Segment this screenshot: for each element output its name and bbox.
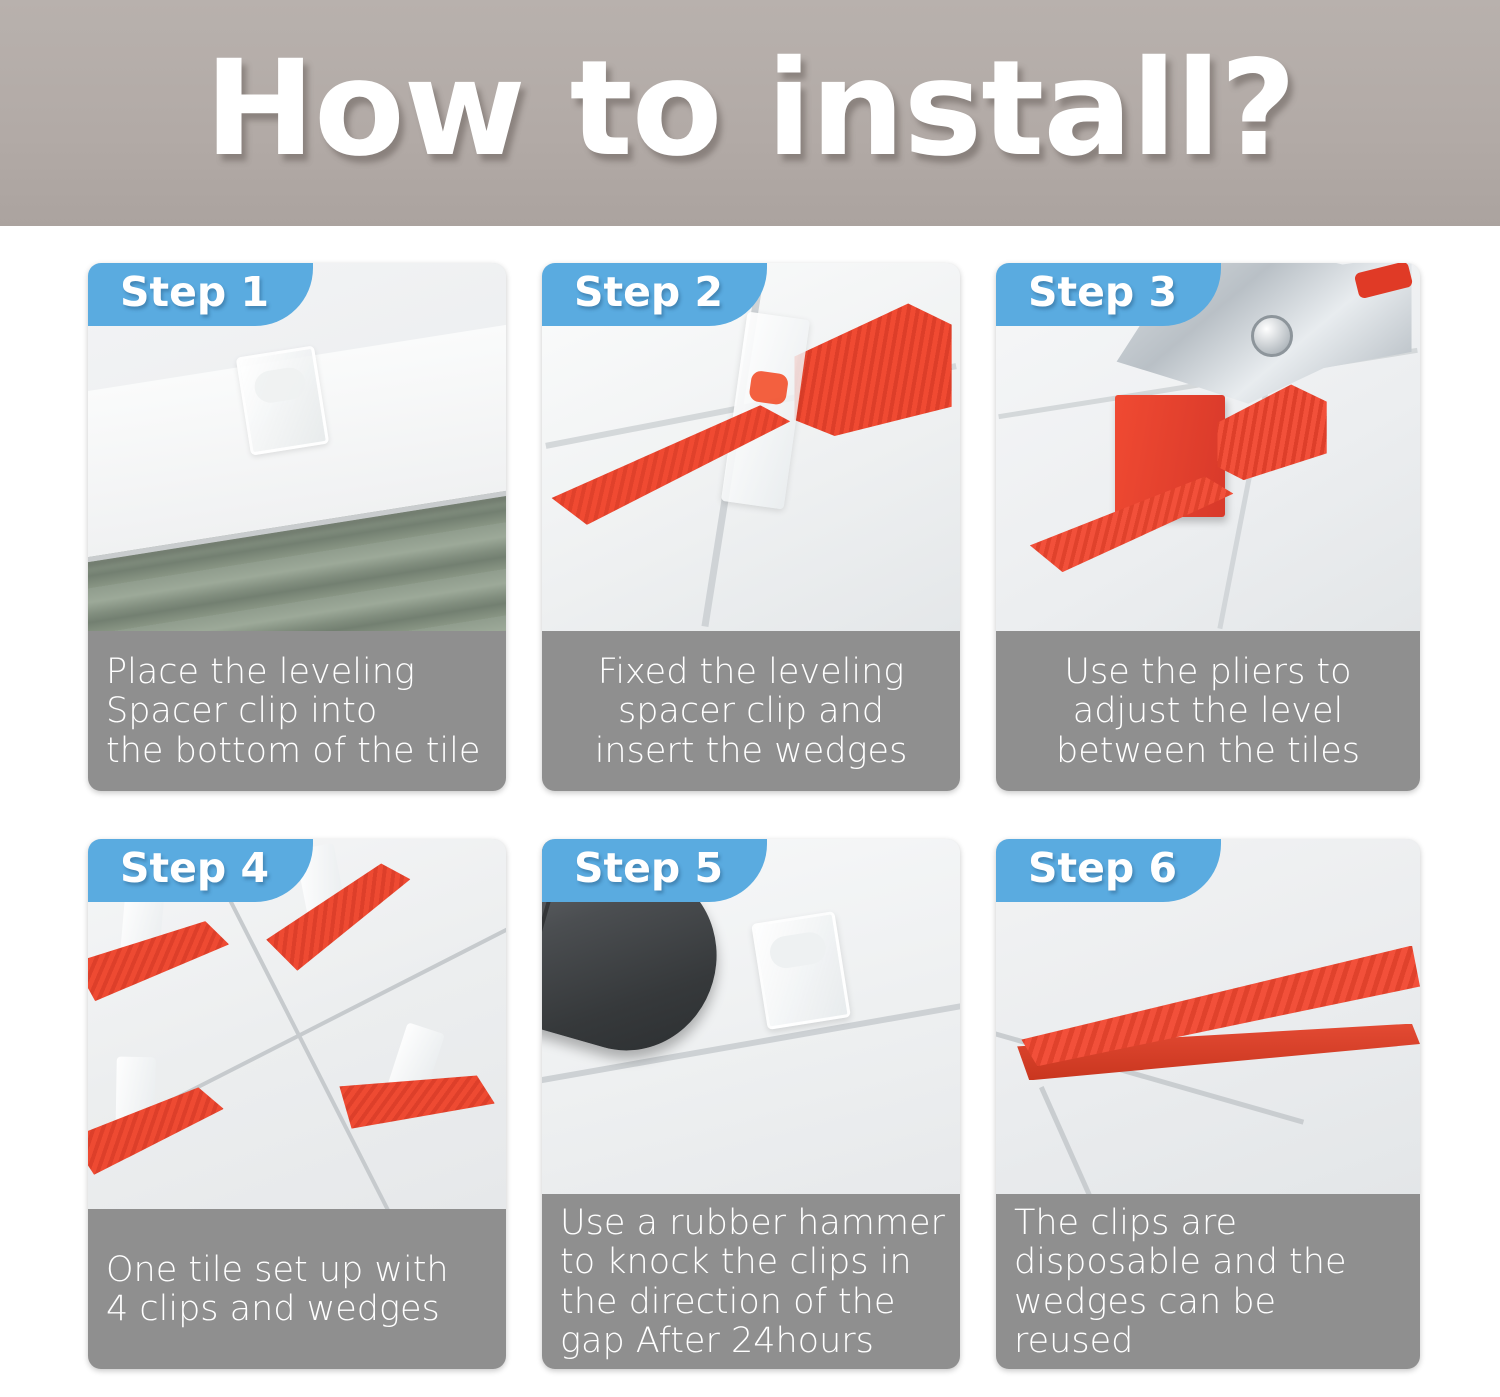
- step-badge-label: Step 6: [1028, 848, 1177, 889]
- caption-line: Spacer clip into: [106, 692, 488, 731]
- step-badge-6: Step 6: [996, 839, 1221, 902]
- caption-line: Fixed the leveling: [560, 653, 942, 692]
- caption-line: insert the wedges: [560, 732, 942, 771]
- caption-line: Use a rubber hammer: [560, 1204, 942, 1243]
- step-card-4[interactable]: Step 4 One tile set up with 4 clips and …: [88, 839, 506, 1369]
- step-card-1[interactable]: Step 1 Place the leveling Spacer clip in…: [88, 263, 506, 791]
- step-photo-6: Step 6: [996, 839, 1420, 1194]
- step-photo-2: Step 2: [542, 263, 960, 631]
- caption-line: One tile set up with: [106, 1251, 488, 1290]
- step-badge-label: Step 4: [120, 848, 269, 889]
- step-caption-6: The clips are disposable and the wedges …: [996, 1194, 1420, 1369]
- step-photo-4: Step 4: [88, 839, 506, 1209]
- caption-line: disposable and the: [1014, 1243, 1402, 1282]
- step-badge-label: Step 5: [574, 848, 723, 889]
- leveling-clip-graphic: [752, 911, 851, 1029]
- step-badge-2: Step 2: [542, 263, 767, 326]
- caption-line: between the tiles: [1014, 732, 1402, 771]
- step-card-6[interactable]: Step 6 The clips are disposable and the …: [996, 839, 1420, 1369]
- step-caption-1: Place the leveling Spacer clip into the …: [88, 631, 506, 791]
- caption-line: spacer clip and: [560, 692, 942, 731]
- step-card-3[interactable]: Step 3 Use the pliers to adjust the leve…: [996, 263, 1420, 791]
- step-badge-1: Step 1: [88, 263, 313, 326]
- step-caption-5: Use a rubber hammer to knock the clips i…: [542, 1194, 960, 1369]
- step-photo-1: Step 1: [88, 263, 506, 631]
- step-card-2[interactable]: Step 2 Fixed the leveling spacer clip an…: [542, 263, 960, 791]
- caption-line: Place the leveling: [106, 653, 488, 692]
- caption-line: adjust the level: [1014, 692, 1402, 731]
- step-badge-label: Step 1: [120, 272, 269, 313]
- step-badge-4: Step 4: [88, 839, 313, 902]
- caption-line: The clips are: [1014, 1204, 1402, 1243]
- step-badge-label: Step 3: [1028, 272, 1177, 313]
- caption-line: Use the pliers to: [1014, 653, 1402, 692]
- step-caption-3: Use the pliers to adjust the level betwe…: [996, 631, 1420, 791]
- step-photo-3: Step 3: [996, 263, 1420, 631]
- step-badge-3: Step 3: [996, 263, 1221, 326]
- pliers-bolt-graphic: [1251, 315, 1293, 357]
- step-caption-2: Fixed the leveling spacer clip and inser…: [542, 631, 960, 791]
- step-caption-4: One tile set up with 4 clips and wedges: [88, 1209, 506, 1369]
- caption-line: gap After 24hours: [560, 1322, 942, 1361]
- caption-line: the bottom of the tile: [106, 732, 488, 771]
- step-photo-5: Step 5: [542, 839, 960, 1194]
- steps-grid: Step 1 Place the leveling Spacer clip in…: [0, 226, 1500, 1391]
- caption-line: 4 clips and wedges: [106, 1290, 488, 1329]
- caption-line: wedges can be: [1014, 1283, 1402, 1322]
- step-card-5[interactable]: Step 5 Use a rubber hammer to knock the …: [542, 839, 960, 1369]
- page-title: How to install?: [205, 43, 1296, 183]
- step-badge-5: Step 5: [542, 839, 767, 902]
- header-bar: How to install?: [0, 0, 1500, 226]
- caption-line: reused: [1014, 1322, 1402, 1361]
- clip-wedge-assembly-graphic: [88, 1077, 226, 1186]
- caption-line: to knock the clips in: [560, 1243, 942, 1282]
- step-badge-label: Step 2: [574, 272, 723, 313]
- caption-line: the direction of the: [560, 1283, 942, 1322]
- leveling-clip-graphic: [235, 346, 329, 457]
